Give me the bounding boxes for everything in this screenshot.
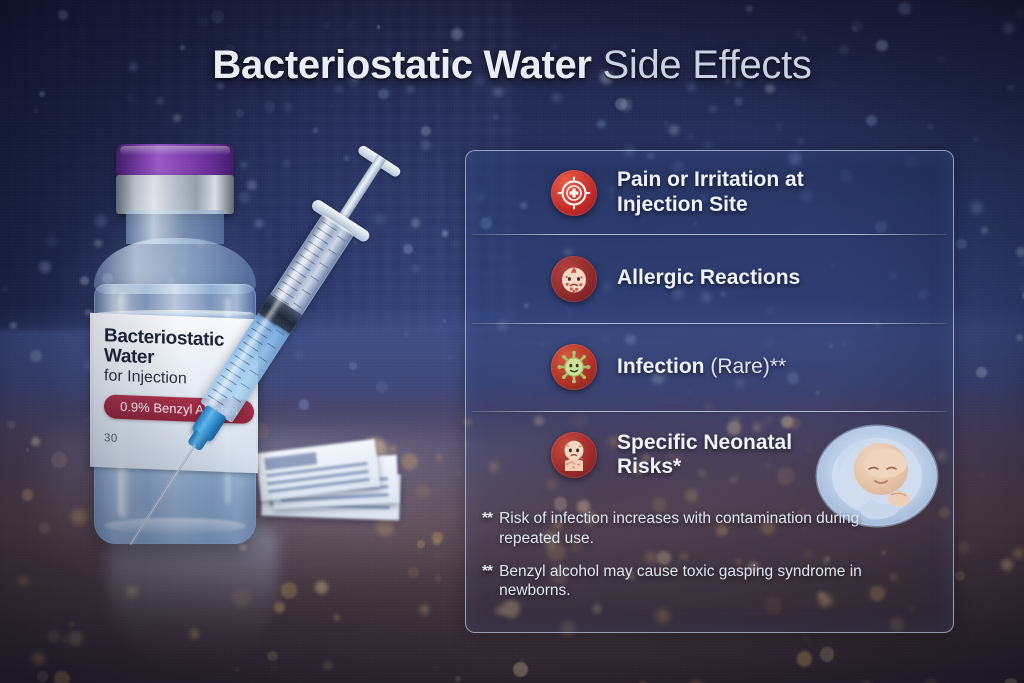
list-item-label: Specific Neonatal Risks* [617, 431, 792, 480]
side-effects-panel: Pain or Irritation at Injection Site [465, 150, 954, 633]
infographic-canvas: Bacteriostatic Water for Injection 0.9% … [0, 0, 1024, 683]
virus-germ-icon [551, 344, 597, 390]
list-item-pain-irritation[interactable]: Pain or Irritation at Injection Site [466, 151, 953, 234]
injection-site-target-icon [551, 170, 597, 216]
page-title-secondary: Side Effects [603, 43, 812, 87]
list-item-label: Allergic Reactions [617, 266, 800, 290]
footnote-text: Risk of infection increases with contami… [499, 509, 909, 549]
list-item-label-line-2: Injection Site [617, 193, 804, 217]
list-item-label-text: Allergic Reactions [617, 266, 800, 289]
list-item-label-line-1: Specific Neonatal [617, 431, 792, 455]
allergic-rash-face-icon [551, 256, 597, 302]
list-item-allergic-reactions[interactable]: Allergic Reactions [466, 234, 953, 323]
list-item-infection[interactable]: Infection (Rare)** [466, 323, 953, 411]
neonatal-baby-icon [551, 432, 597, 478]
page-title-primary: Bacteriostatic Water [212, 43, 591, 87]
footnote: ** Benzyl alcohol may cause toxic gaspin… [482, 562, 939, 602]
footnote-marker: ** [482, 562, 492, 602]
list-item-label: Pain or Irritation at Injection Site [617, 168, 804, 217]
list-item-label: Infection (Rare)** [617, 355, 786, 379]
footnotes: ** Risk of infection increases with cont… [482, 509, 939, 614]
list-item-label-line-2: Risks* [617, 455, 792, 479]
footnote-text: Benzyl alcohol may cause toxic gasping s… [499, 562, 909, 602]
list-item-label-text: Infection [617, 355, 705, 378]
list-item-label-line-1: Pain or Irritation at [617, 168, 804, 192]
footnote-marker: ** [482, 509, 492, 549]
page-title: Bacteriostatic Water Side Effects [0, 44, 1024, 86]
list-item-label-qualifier: (Rare)** [705, 355, 787, 378]
footnote: ** Risk of infection increases with cont… [482, 509, 939, 549]
